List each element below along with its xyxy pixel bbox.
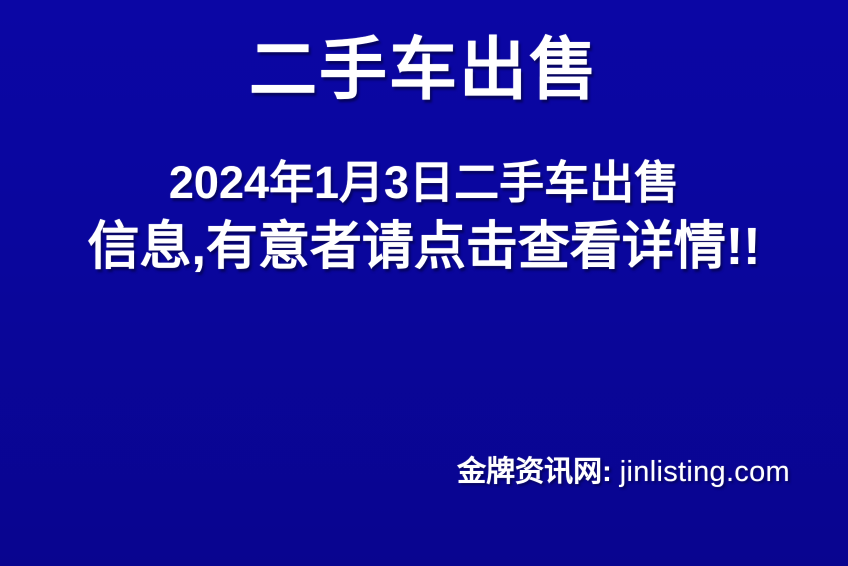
- site-url: jinlisting.com: [620, 456, 790, 488]
- site-name: 金牌资讯网:: [457, 456, 612, 488]
- promo-banner: 二手车出售 2024年1月3日二手车出售 信息,有意者请点击查看详情!! 金牌资…: [0, 0, 848, 566]
- site-credit: 金牌资讯网: jinlisting.com: [457, 452, 790, 492]
- body-line-call-to-action: 信息,有意者请点击查看详情!!: [0, 214, 848, 280]
- body-line-date: 2024年1月3日二手车出售: [0, 152, 848, 214]
- body-copy-block: 2024年1月3日二手车出售 信息,有意者请点击查看详情!!: [0, 152, 848, 280]
- page-title: 二手车出售: [0, 30, 848, 110]
